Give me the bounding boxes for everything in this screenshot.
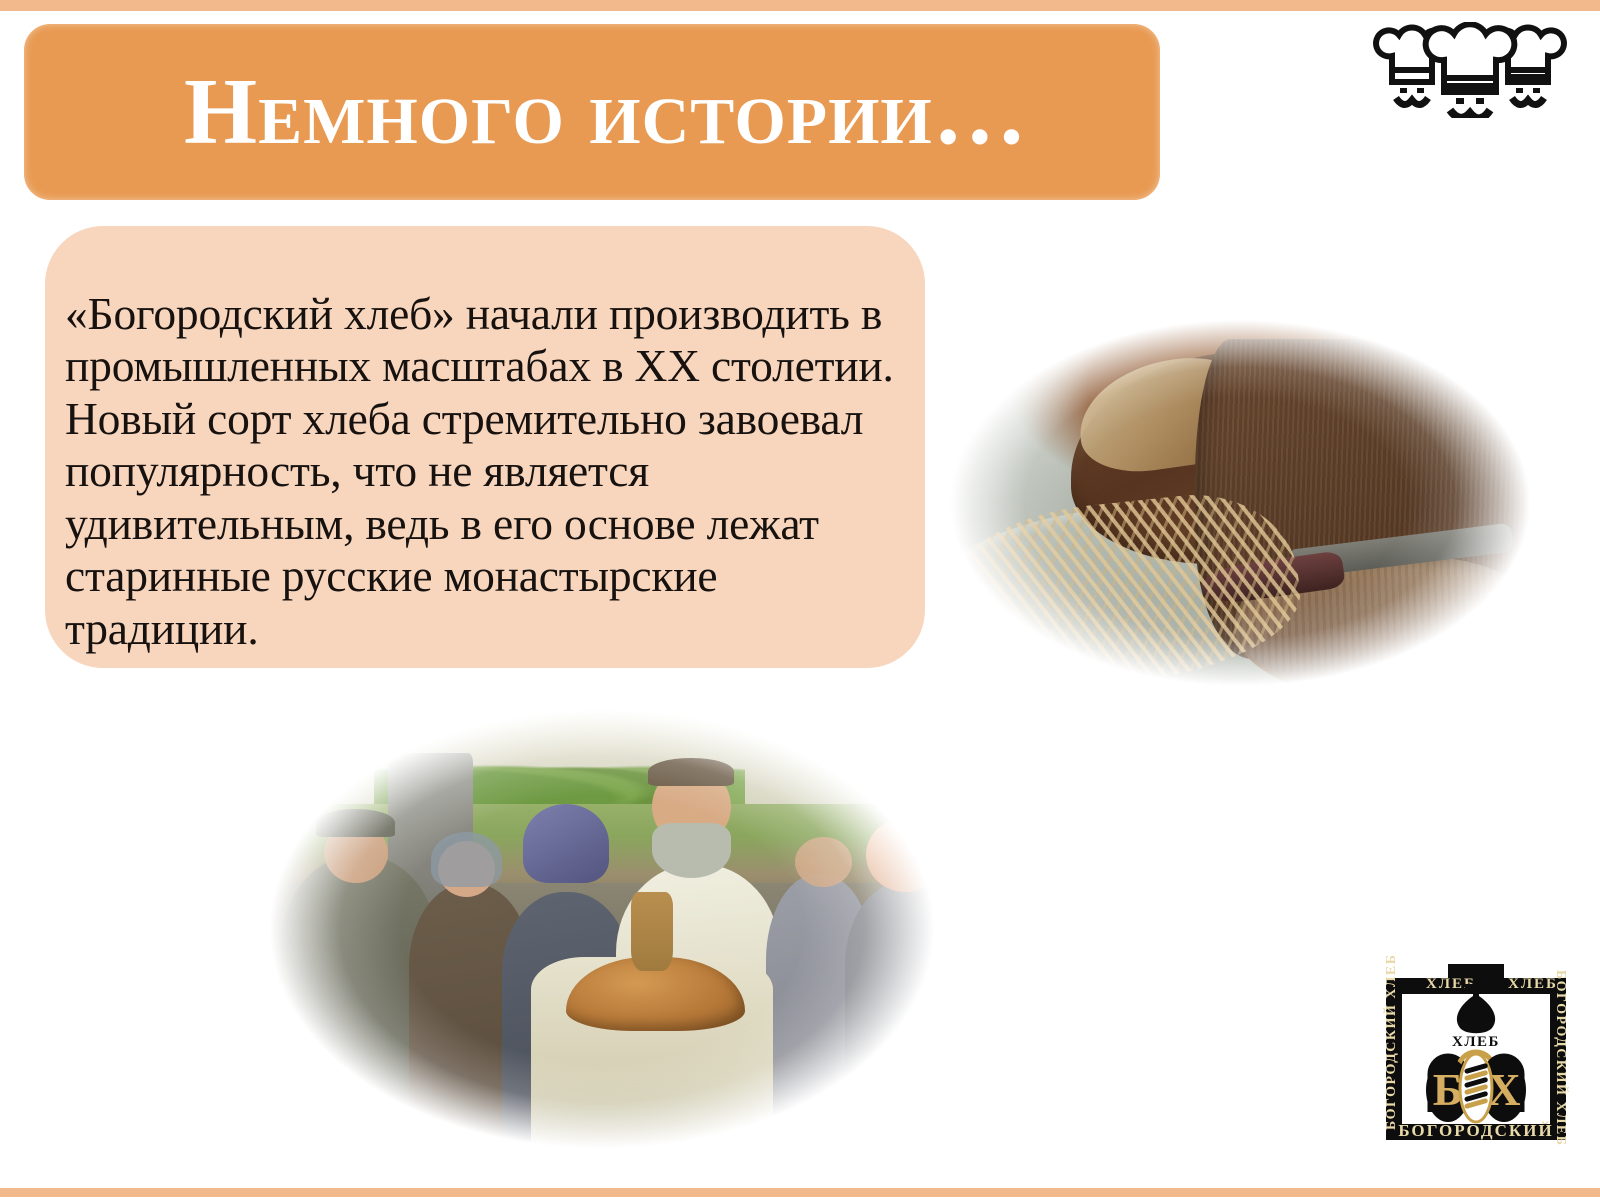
painting-head-right-outer: [866, 818, 945, 892]
title-bar: Немного истории…: [24, 24, 1160, 200]
svg-text:БОГОРОДСКИЙ ХЛЕБ: БОГОРОДСКИЙ ХЛЕБ: [1382, 954, 1399, 1130]
slide-root: Немного истории…: [0, 0, 1600, 1200]
svg-text:ХЛЕБ: ХЛЕБ: [1452, 1034, 1500, 1050]
painting-salt-cellar: [631, 892, 674, 971]
painting-head-right-inner: [795, 837, 852, 888]
svg-text:БОГОРОДСКИЙ ХЛЕБ: БОГОРОДСКИЙ ХЛЕБ: [1553, 970, 1570, 1146]
painting-figure-right-outer: [845, 883, 959, 1160]
accent-band-top: [0, 0, 1600, 11]
rye-bread-photo: [915, 298, 1565, 708]
body-text-card: «Богородский хлеб» начали производить в …: [45, 226, 925, 668]
painting-beard-elder: [652, 823, 731, 878]
page-title: Немного истории…: [184, 65, 1028, 159]
bogorodsky-hleb-emblem: ХЛЕБ ХЛЕБ БОГОРОДСКИЙ БОГОРОДСКИЙ ХЛЕБ Б…: [1368, 942, 1584, 1158]
three-chef-hats-icon: [1372, 22, 1568, 118]
painting-cap-man-left: [316, 809, 395, 837]
bread-and-salt-painting: [245, 698, 959, 1160]
painting-hair-elder: [648, 758, 734, 786]
svg-text:БОГОРОДСКИЙ: БОГОРОДСКИЙ: [1398, 1121, 1553, 1140]
painting-kerchief-blue: [523, 804, 609, 883]
svg-text:ХЛЕБ: ХЛЕБ: [1508, 976, 1558, 992]
body-paragraph: «Богородский хлеб» начали производить в …: [65, 288, 899, 656]
painting-kerchief-woman-second: [431, 832, 502, 887]
accent-band-bottom: [0, 1188, 1600, 1197]
